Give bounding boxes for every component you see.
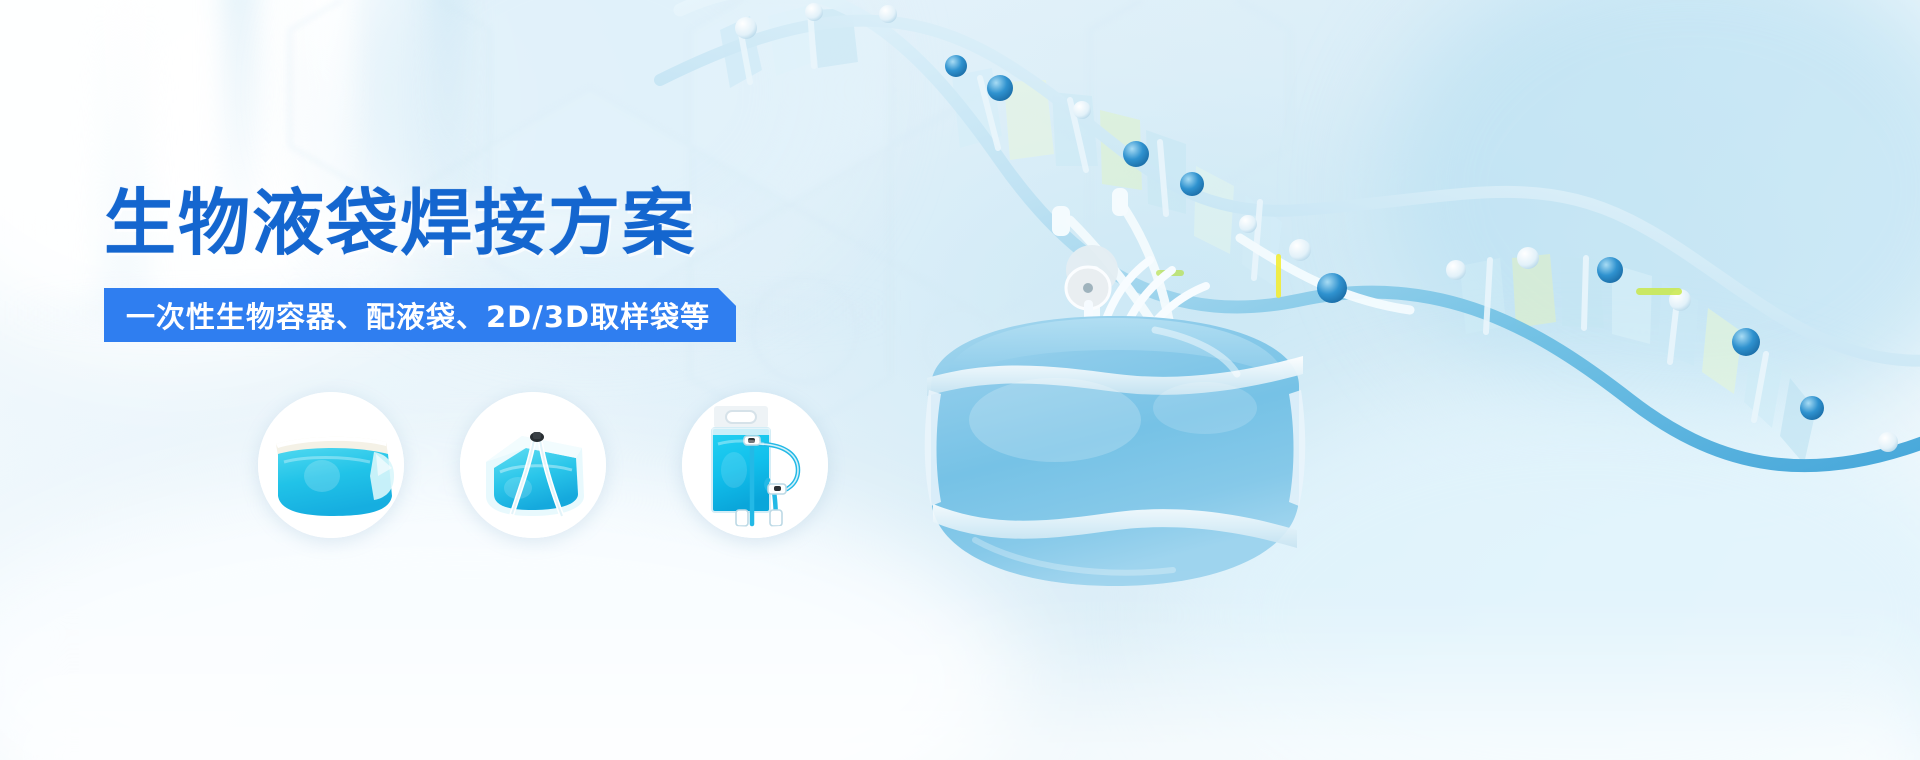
product-circle-3d-sampling-bag[interactable] — [460, 392, 606, 538]
bottom-fade — [0, 600, 1920, 760]
bioreactor-bag-graphic — [905, 300, 1325, 600]
bag-port-assembly-icon — [1040, 230, 1280, 370]
hexagon-watermark-icon — [0, 0, 1920, 760]
2d-liquid-bag-icon — [258, 392, 404, 538]
lab-shelf-stripe-3 — [300, 0, 354, 320]
product-circle-sampling-bag-tubing[interactable] — [682, 392, 828, 538]
3d-sampling-bag-icon — [460, 392, 606, 538]
sampling-bag-tubing-icon — [682, 392, 828, 538]
subtitle-text: 一次性生物容器、配液袋、2D/3D取样袋等 — [126, 294, 710, 336]
subtitle-banner: 一次性生物容器、配液袋、2D/3D取样袋等 — [104, 288, 736, 342]
product-circle-2d-liquid-bag[interactable] — [258, 392, 404, 538]
background-blob-lower-right — [1180, 380, 1920, 760]
hero-banner: 生物液袋焊接方案 一次性生物容器、配液袋、2D/3D取样袋等 — [0, 0, 1920, 760]
page-title: 生物液袋焊接方案 — [104, 180, 696, 266]
background-blob-right — [1380, 0, 1920, 440]
